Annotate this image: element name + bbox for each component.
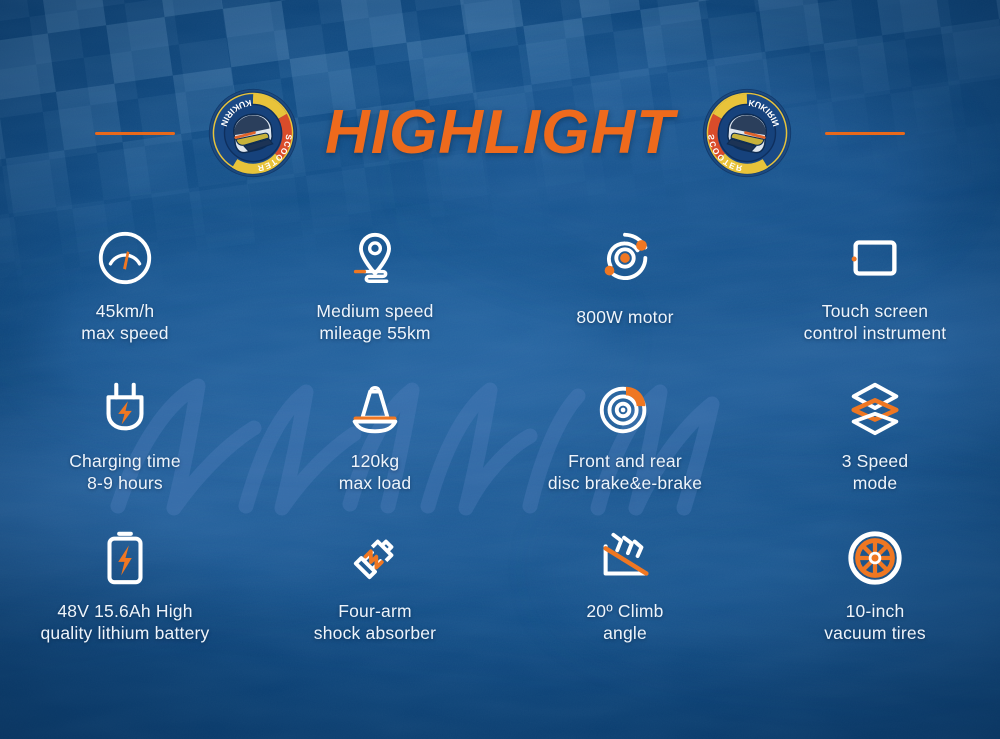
feature-label: 20º Climb angle (586, 601, 663, 645)
climb-angle-icon (594, 527, 656, 589)
feature-label: Medium speed mileage 55km (316, 301, 433, 345)
plug-charge-icon (94, 377, 156, 439)
weight-load-icon (344, 377, 406, 439)
tablet-screen-icon (844, 227, 906, 289)
header-rule-right (825, 132, 905, 135)
kukirin-scooter-emblem: KUKIRIN SCOOTER (207, 87, 299, 179)
kukirin-scooter-emblem-mirrored: KUKIRIN SCOOTER (701, 87, 793, 179)
highlight-infographic: KUKIRIN SCOOTER HIGHLIGHT (0, 0, 1000, 739)
feature-item-speed-mode: 3 Speed mode (750, 365, 1000, 515)
feature-item-brakes: Front and rear disc brake&e-brake (500, 365, 750, 515)
feature-item-battery: 48V 15.6Ah High quality lithium battery (0, 515, 250, 670)
motor-icon (594, 227, 656, 289)
page-title: HIGHLIGHT (299, 102, 701, 164)
brake-disc-icon (594, 377, 656, 439)
feature-grid: 45km/h max speed Medium speed mileage 55… (0, 215, 1000, 670)
feature-item-climb-angle: 20º Climb angle (500, 515, 750, 670)
feature-label: 120kg max load (339, 451, 412, 495)
battery-bolt-icon (94, 527, 156, 589)
feature-label: 800W motor (576, 307, 673, 329)
feature-label: 3 Speed mode (842, 451, 909, 495)
feature-label: 10-inch vacuum tires (824, 601, 926, 645)
shock-spring-icon (344, 527, 406, 589)
layers-speed-icon (844, 377, 906, 439)
speedometer-icon (94, 227, 156, 289)
feature-item-mileage: Medium speed mileage 55km (250, 215, 500, 365)
map-pin-route-icon (344, 227, 406, 289)
feature-label: Front and rear disc brake&e-brake (548, 451, 702, 495)
feature-item-charging-time: Charging time 8-9 hours (0, 365, 250, 515)
feature-item-tires: 10-inch vacuum tires (750, 515, 1000, 670)
feature-item-touch-screen: Touch screen control instrument (750, 215, 1000, 365)
feature-label: 48V 15.6Ah High quality lithium battery (41, 601, 210, 645)
header: KUKIRIN SCOOTER HIGHLIGHT (0, 78, 1000, 188)
feature-label: 45km/h max speed (81, 301, 168, 345)
feature-label: Charging time 8-9 hours (69, 451, 181, 495)
feature-item-motor: 800W motor (500, 215, 750, 365)
wheel-tire-icon (844, 527, 906, 589)
feature-item-max-load: 120kg max load (250, 365, 500, 515)
header-rule-left (95, 132, 175, 135)
feature-label: Touch screen control instrument (804, 301, 947, 345)
feature-item-max-speed: 45km/h max speed (0, 215, 250, 365)
feature-item-shock-absorber: Four-arm shock absorber (250, 515, 500, 670)
feature-label: Four-arm shock absorber (314, 601, 436, 645)
